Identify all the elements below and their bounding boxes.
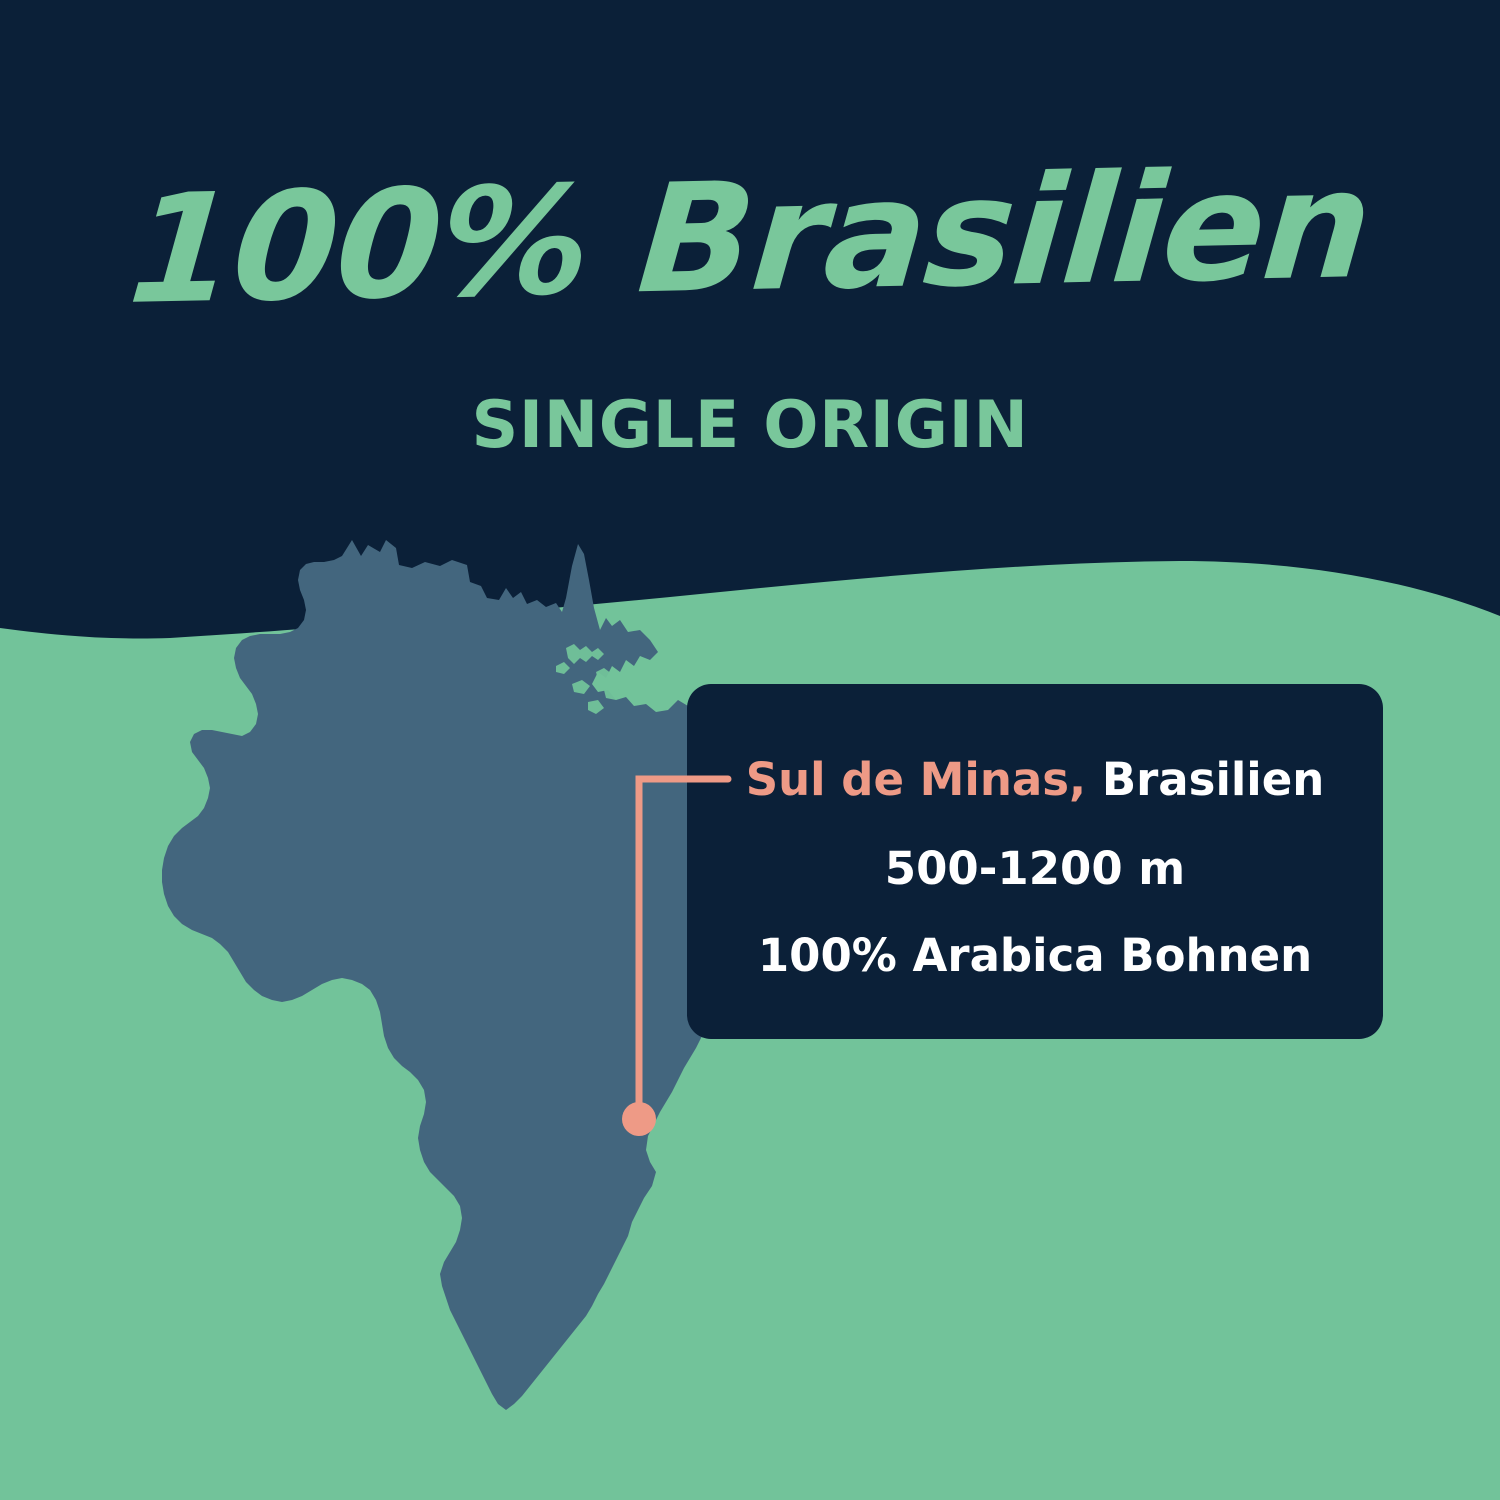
origin-region-label: Sul de Minas,	[746, 753, 1086, 806]
page-subtitle: SINGLE ORIGIN	[0, 388, 1500, 463]
bean-type-label: 100% Arabica Bohnen	[758, 933, 1312, 978]
promo-graphic: 100% Brasilien SINGLE ORIGIN Sul de Mina…	[0, 0, 1500, 1500]
page-title: 100% Brasilien	[0, 144, 1500, 333]
origin-location-line: Sul de Minas, Brasilien	[746, 757, 1325, 802]
origin-info-card: Sul de Minas, Brasilien 500-1200 m 100% …	[687, 684, 1383, 1039]
origin-country-label: Brasilien	[1102, 753, 1324, 806]
brazil-country-shape	[162, 540, 748, 1410]
altitude-label: 500-1200 m	[885, 846, 1185, 891]
